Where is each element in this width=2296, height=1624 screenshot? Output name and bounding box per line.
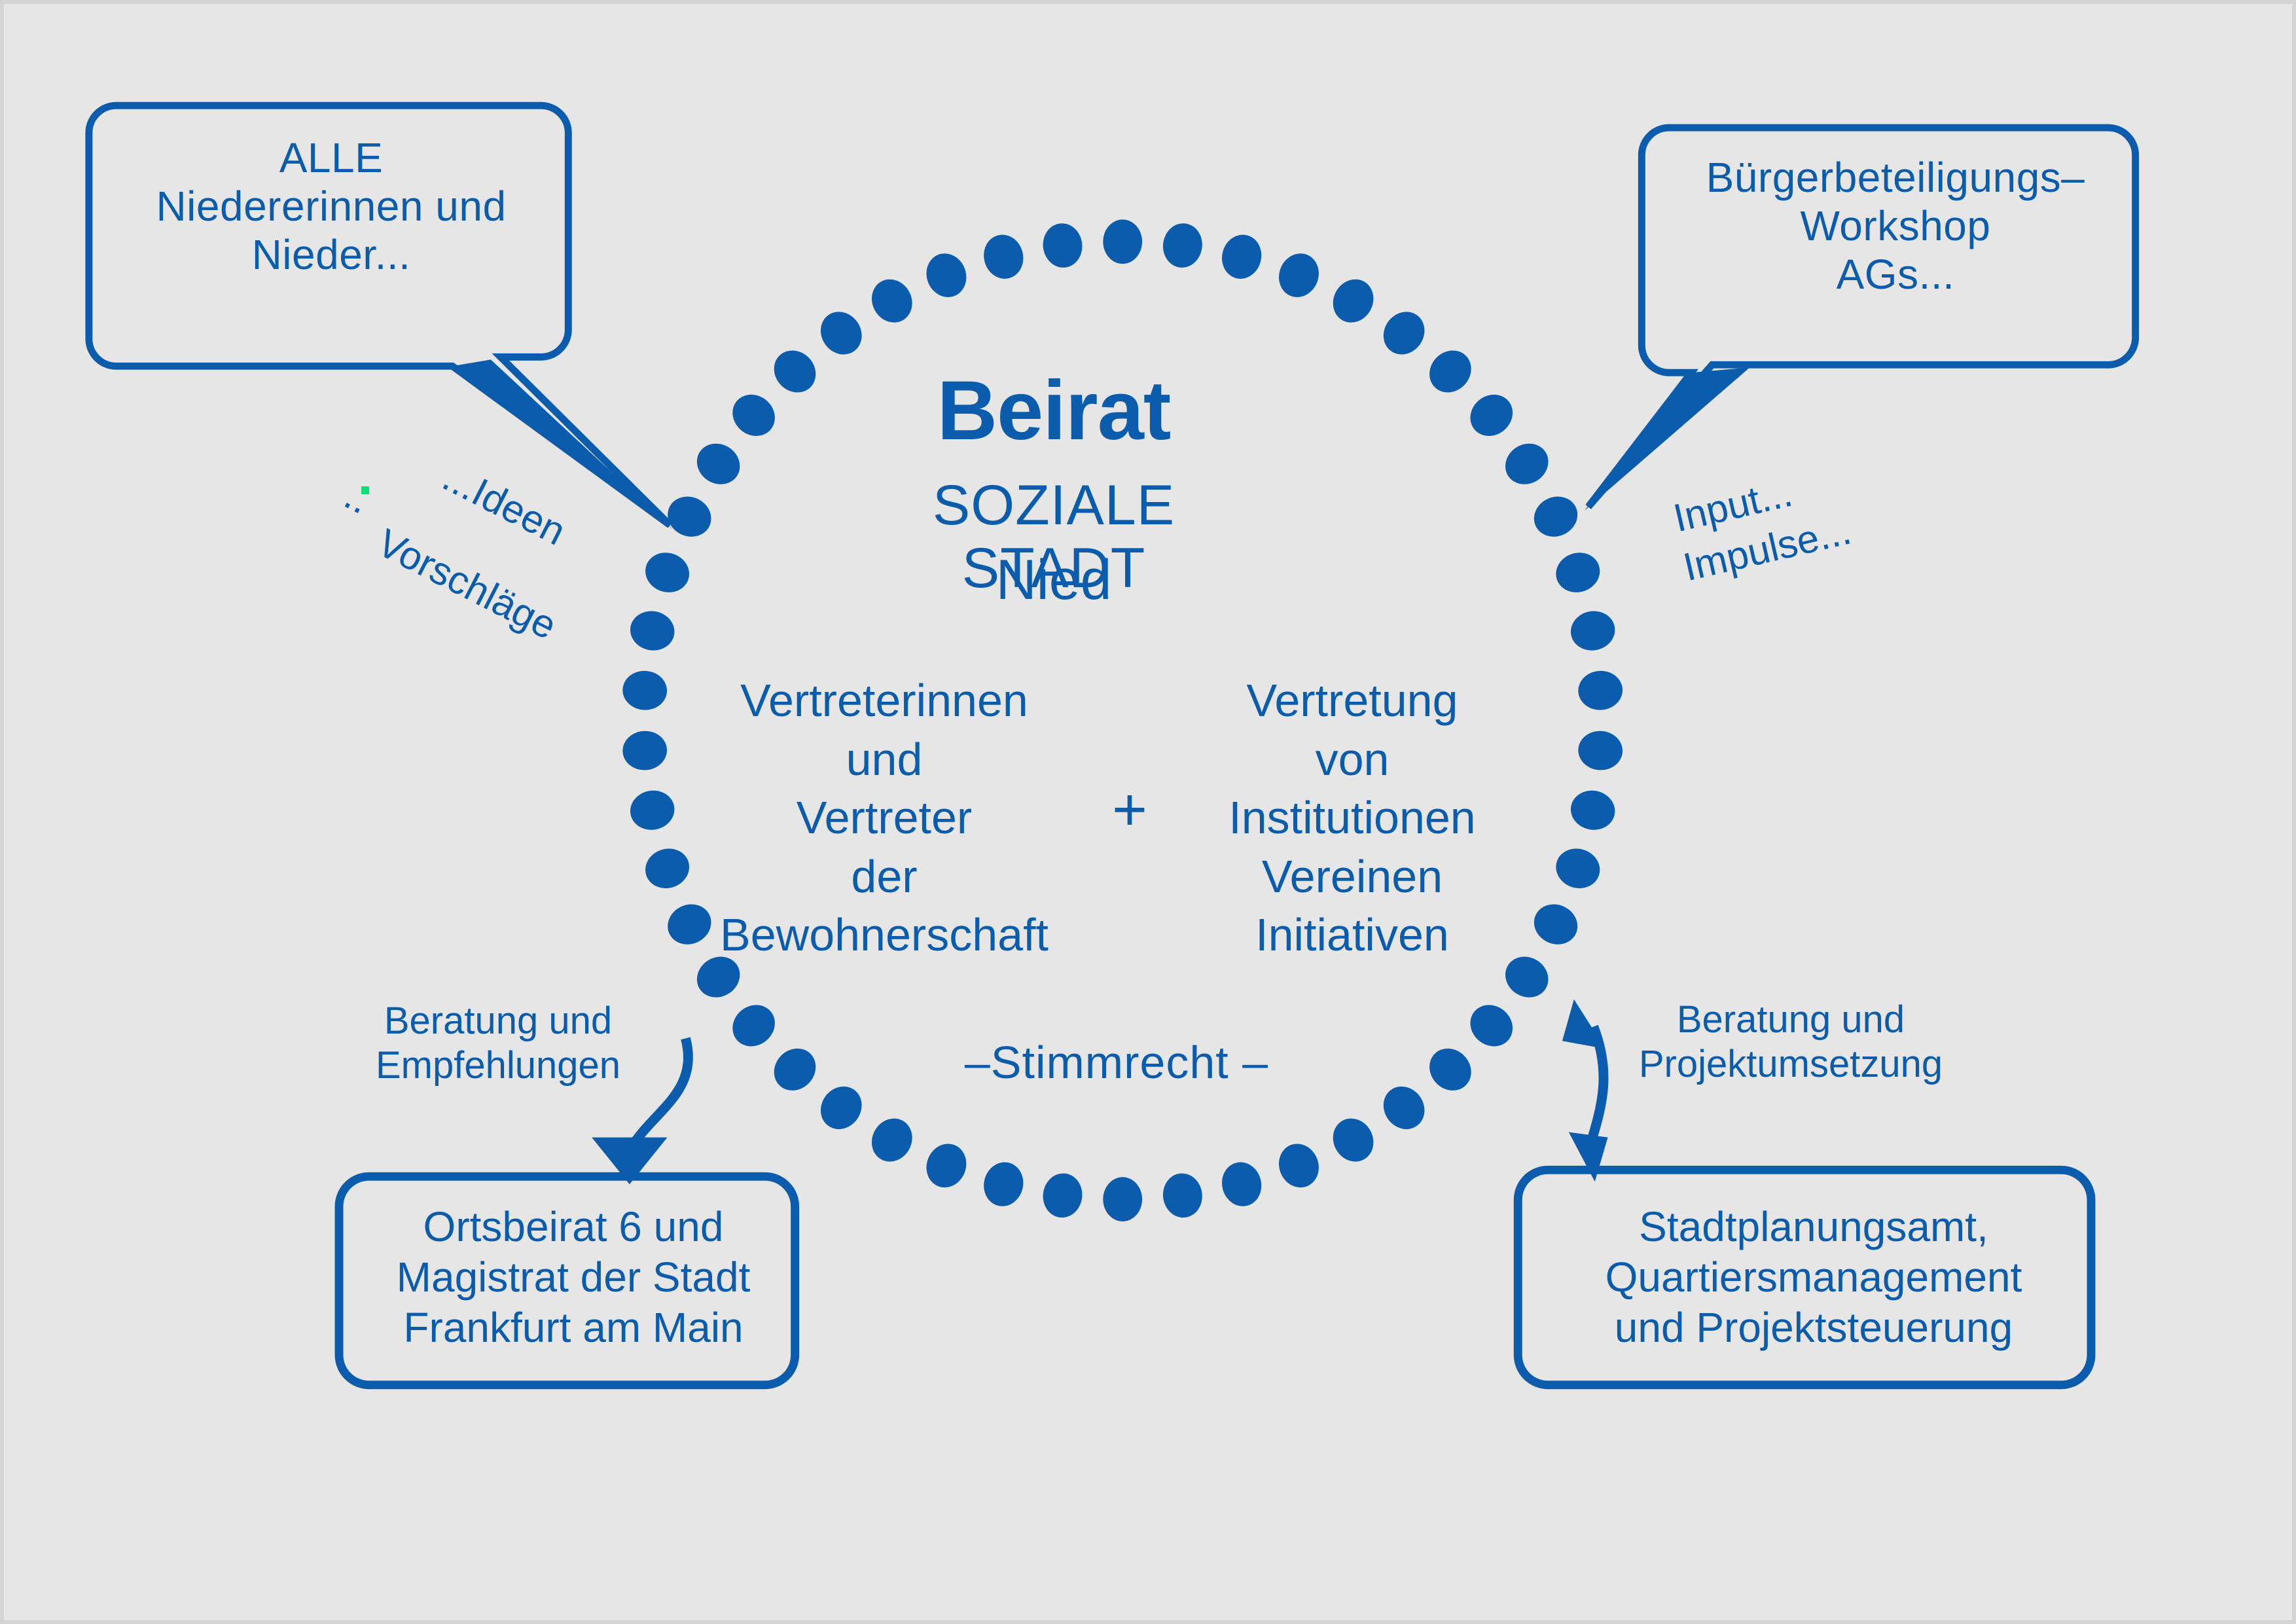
circle-dot bbox=[1217, 230, 1266, 283]
circle-dot bbox=[1325, 272, 1381, 330]
beratung-l-line-2: Empfehlungen bbox=[357, 1043, 639, 1088]
circle-dot bbox=[864, 272, 920, 330]
plus-symbol: + bbox=[1077, 780, 1182, 840]
circle-dot bbox=[979, 230, 1028, 283]
bubble-tl-line-2: Niedererinnen und bbox=[102, 182, 560, 230]
col-left-line-2: und bbox=[701, 731, 1067, 789]
center-footnote: –Stimmrecht – bbox=[907, 1037, 1326, 1088]
annotation-beratung-empfehlungen: Beratung und Empfehlungen bbox=[357, 999, 639, 1089]
box-bl-line-1: Ortsbeirat 6 und bbox=[344, 1202, 802, 1252]
col-left-line-1: Vertreterinnen bbox=[701, 672, 1067, 731]
bubble-tl-line-1: ALLE bbox=[102, 134, 560, 182]
circle-dot bbox=[1421, 342, 1480, 401]
circle-dot bbox=[766, 1040, 825, 1099]
box-text-stadtplanungsamt: Stadtplanungsamt, Quartiersmanagement un… bbox=[1529, 1202, 2098, 1352]
circle-dot bbox=[1462, 996, 1521, 1055]
circle-dot bbox=[1272, 1138, 1325, 1193]
box-bl-line-2: Magistrat der Stadt bbox=[344, 1252, 802, 1303]
center-column-left: Vertreterinnen und Vertreter der Bewohne… bbox=[701, 672, 1067, 965]
circle-dot bbox=[1375, 1079, 1433, 1138]
circle-dot bbox=[1325, 1111, 1381, 1169]
circle-dot bbox=[979, 1158, 1028, 1210]
circle-dot bbox=[1568, 787, 1619, 833]
circle-dot bbox=[1528, 490, 1585, 544]
circle-dot bbox=[1551, 547, 1605, 598]
bubble-tr-line-2: Workshop bbox=[1666, 202, 2125, 250]
circle-dot bbox=[622, 670, 668, 712]
circle-dot bbox=[812, 304, 870, 363]
circle-dot bbox=[766, 342, 825, 401]
circle-dot bbox=[1551, 843, 1605, 894]
col-right-line-1: Vertretung bbox=[1182, 672, 1522, 731]
annotation-beratung-projektumsetzung: Beratung und Projektumsetzung bbox=[1634, 998, 1948, 1087]
circle-dot bbox=[627, 787, 678, 833]
circle-dot bbox=[1160, 221, 1205, 270]
circle-dot bbox=[1041, 1171, 1085, 1220]
circle-dot bbox=[627, 607, 678, 654]
circle-dot bbox=[1577, 730, 1624, 772]
col-left-line-4: der bbox=[701, 848, 1067, 907]
circle-dot bbox=[920, 1138, 973, 1193]
circle-dot bbox=[812, 1079, 870, 1138]
circle-dot bbox=[1528, 897, 1585, 952]
circle-dot bbox=[724, 996, 783, 1055]
circle-dot bbox=[1462, 386, 1521, 444]
circle-dot bbox=[689, 435, 747, 492]
col-left-line-3: Vertreter bbox=[701, 789, 1067, 848]
circle-dot bbox=[1272, 247, 1325, 303]
circle-dot bbox=[724, 386, 783, 444]
circle-dot bbox=[640, 547, 694, 598]
box-text-ortsbeirat: Ortsbeirat 6 und Magistrat der Stadt Fra… bbox=[344, 1202, 802, 1352]
beratung-l-line-1: Beratung und bbox=[357, 999, 639, 1043]
col-left-line-5: Bewohnerschaft bbox=[701, 906, 1067, 965]
bubble-text-top-left: ALLE Niedererinnen und Nieder... bbox=[102, 134, 560, 280]
circle-dot bbox=[1041, 221, 1085, 270]
col-right-line-4: Vereinen bbox=[1182, 848, 1522, 907]
box-bl-line-3: Frankfurt am Main bbox=[344, 1303, 802, 1353]
circle-dot bbox=[1217, 1158, 1266, 1210]
bubble-tr-line-1: Bürgerbeteiligungs– bbox=[1666, 153, 2125, 202]
col-right-line-2: von bbox=[1182, 731, 1522, 789]
center-column-right: Vertretung von Institutionen Vereinen In… bbox=[1182, 672, 1522, 965]
circle-dot bbox=[920, 247, 973, 303]
circle-dot bbox=[1375, 304, 1433, 363]
box-br-line-2: Quartiersmanagement bbox=[1529, 1252, 2098, 1303]
box-br-line-1: Stadtplanungsamt, bbox=[1529, 1202, 2098, 1252]
bubble-tl-line-3: Nieder... bbox=[102, 230, 560, 279]
circle-dot bbox=[1103, 1177, 1142, 1221]
circle-dot bbox=[1160, 1171, 1205, 1220]
circle-dot bbox=[622, 730, 668, 772]
bubble-tr-line-3: AGs... bbox=[1666, 250, 2125, 298]
beratung-r-line-1: Beratung und bbox=[1634, 998, 1948, 1042]
circle-dot bbox=[1568, 607, 1619, 654]
col-right-line-3: Institutionen bbox=[1182, 789, 1522, 848]
beratung-r-line-2: Projektumsetzung bbox=[1634, 1042, 1948, 1087]
box-br-line-3: und Projektsteuerung bbox=[1529, 1303, 2098, 1353]
col-right-line-5: Initiativen bbox=[1182, 906, 1522, 965]
circle-dot bbox=[1577, 670, 1624, 712]
circle-dot bbox=[640, 843, 694, 894]
center-place: Nied bbox=[844, 549, 1263, 611]
diagram-canvas: ALLE Niedererinnen und Nieder... Bürgerb… bbox=[0, 0, 2296, 1624]
arrow-beratung-projektumsetzung bbox=[1562, 1000, 1608, 1182]
circle-dot bbox=[1498, 435, 1556, 492]
green-marker-dot bbox=[361, 486, 369, 494]
circle-dot bbox=[1103, 219, 1142, 264]
circle-dot bbox=[864, 1111, 920, 1169]
circle-dot bbox=[661, 490, 718, 544]
center-title: Beirat bbox=[844, 364, 1263, 458]
bubble-text-top-right: Bürgerbeteiligungs– Workshop AGs... bbox=[1666, 153, 2125, 299]
circle-dot bbox=[1421, 1040, 1480, 1099]
